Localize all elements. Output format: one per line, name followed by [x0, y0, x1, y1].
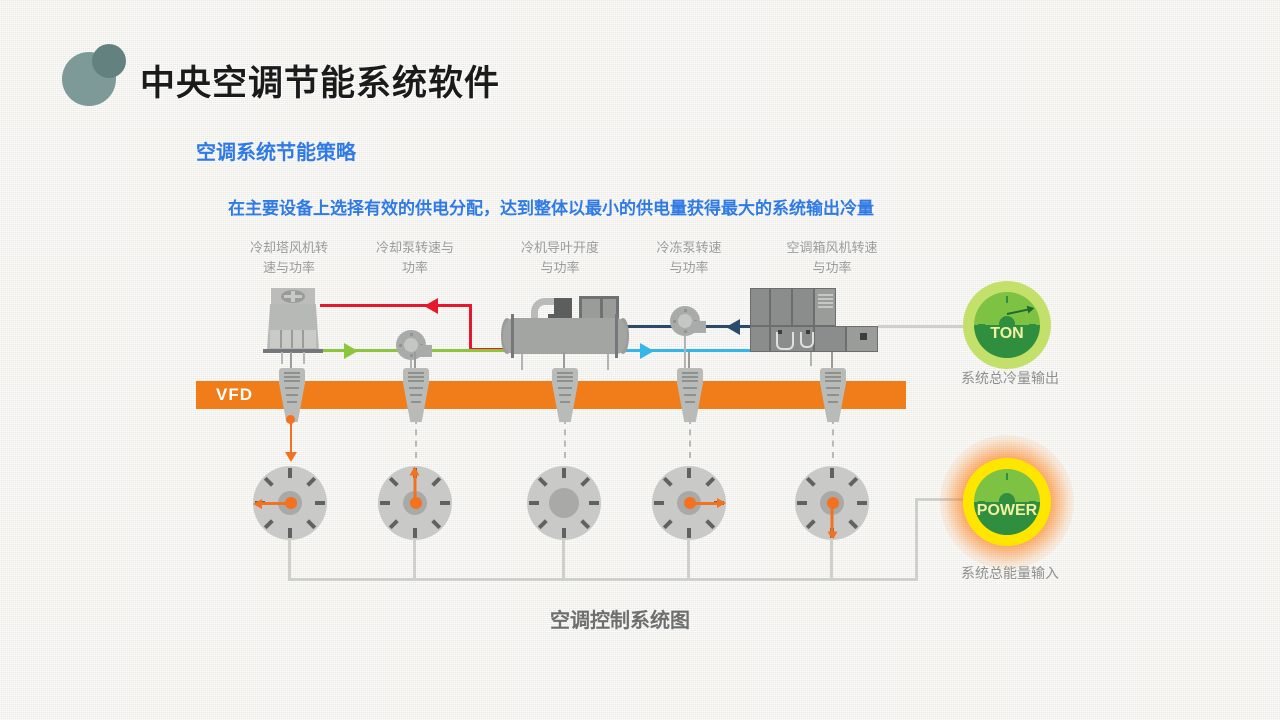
power-input-gauge: POWER	[963, 458, 1051, 546]
vfd5-drop-line	[832, 418, 834, 458]
diagram-caption: 空调控制系统图	[0, 604, 1240, 633]
label-line-2: 与功率	[500, 258, 620, 278]
vfd1-drop-arrow-icon	[285, 452, 297, 462]
app-logo	[62, 44, 126, 106]
vfd2-drop-line	[415, 418, 417, 458]
chilled-supply-arrow-icon	[640, 343, 654, 359]
label-line-2: 功率	[355, 258, 475, 278]
vfd3-drop-line	[564, 418, 566, 458]
power-bus-horizontal	[288, 578, 918, 581]
power-bus-drop-4	[687, 538, 690, 581]
vfd-unit-5[interactable]	[820, 368, 846, 422]
motor-gauge-1[interactable]	[253, 466, 327, 540]
motor-gauge-2[interactable]	[378, 466, 452, 540]
chilled-water-pump-icon	[670, 306, 704, 340]
label-line-2: 与功率	[629, 258, 749, 278]
vfd-unit-3[interactable]	[552, 368, 578, 422]
power-gauge-text: POWER	[963, 502, 1051, 520]
air-handling-unit-icon	[750, 288, 878, 352]
ton-gauge-text: TON	[963, 325, 1051, 343]
motor-gauge-4[interactable]	[652, 466, 726, 540]
condenser-return-pipe-v	[469, 304, 472, 351]
vfd4-drop-line	[689, 418, 691, 458]
vfd-unit-2[interactable]	[403, 368, 429, 422]
vfd-unit-4[interactable]	[677, 368, 703, 422]
vfd-unit-1[interactable]	[279, 368, 305, 422]
cooling-tower-fan-icon	[281, 290, 305, 303]
power-input-label: 系统总能量输入	[910, 563, 1110, 583]
power-bus-drop-1	[288, 538, 291, 581]
motor-gauge-5[interactable]	[795, 466, 869, 540]
label-line-1: 空调箱风机转速	[762, 238, 902, 258]
label-line-1: 冷冻泵转速	[629, 238, 749, 258]
condenser-return-arrow-icon	[424, 298, 438, 314]
section-tagline: 在主要设备上选择有效的供电分配，达到整体以最小的供电量获得最大的系统输出冷量	[228, 194, 874, 219]
label-line-1: 冷却塔风机转	[229, 238, 349, 258]
equipment-label-ahu: 空调箱风机转速 与功率	[762, 238, 902, 278]
condenser-pump-icon	[396, 330, 430, 364]
logo-circle-small-icon	[92, 44, 126, 78]
ton-output-connector	[878, 325, 968, 328]
page-title: 中央空调节能系统软件	[140, 55, 500, 106]
equipment-label-chilled-pump: 冷冻泵转速 与功率	[629, 238, 749, 278]
ton-output-gauge: TON	[963, 281, 1051, 369]
label-line-2: 与功率	[762, 258, 902, 278]
cooling-tower-icon	[263, 288, 323, 356]
label-line-2: 速与功率	[229, 258, 349, 278]
chilled-return-arrow-icon	[726, 319, 740, 335]
vfd-label: VFD	[216, 385, 253, 405]
equipment-label-chiller: 冷机导叶开度 与功率	[500, 238, 620, 278]
label-line-1: 冷机导叶开度	[500, 238, 620, 258]
motor-gauge-3[interactable]	[527, 466, 601, 540]
condenser-supply-arrow-icon	[344, 343, 358, 359]
chiller-icon	[503, 296, 627, 358]
slide-stage: 中央空调节能系统软件 空调系统节能策略 在主要设备上选择有效的供电分配，达到整体…	[0, 0, 1280, 720]
ton-output-label: 系统总冷量输出	[910, 368, 1110, 388]
power-bus-drop-3	[562, 538, 565, 581]
equipment-label-condenser-pump: 冷却泵转速与 功率	[355, 238, 475, 278]
condenser-return-pipe-h	[320, 304, 472, 307]
section-subtitle: 空调系统节能策略	[196, 136, 356, 165]
vfd1-drop-dot	[286, 415, 295, 424]
equipment-label-cooling-tower: 冷却塔风机转 速与功率	[229, 238, 349, 278]
power-bus-drop-5	[830, 538, 833, 581]
power-bus-drop-2	[413, 538, 416, 581]
label-line-1: 冷却泵转速与	[355, 238, 475, 258]
